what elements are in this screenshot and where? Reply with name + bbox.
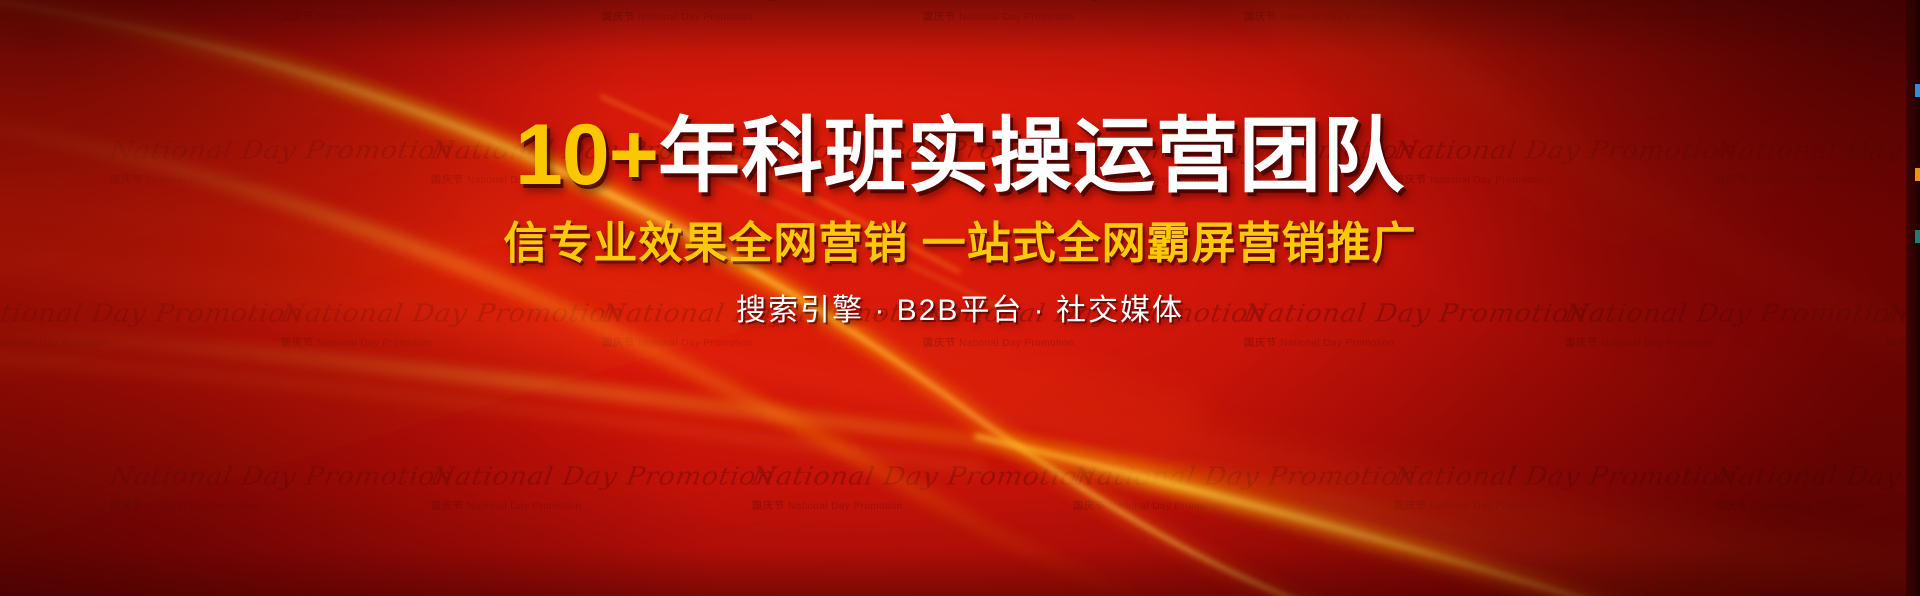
promotional-banner: National Day Promotion国庆节 National Day P…: [0, 0, 1920, 596]
edge-accent-mark: [1915, 84, 1920, 97]
banner-content: 10+年科班实操运营团队 信专业效果全网营销 一站式全网霸屏营销推广 搜索引擎 …: [0, 0, 1920, 596]
headline-number: 10+: [515, 107, 658, 203]
edge-accent-mark: [1915, 230, 1920, 243]
tagline: 搜索引擎 · B2B平台 · 社交媒体: [736, 296, 1184, 326]
headline-text: 年科班实操运营团队: [658, 111, 1405, 202]
edge-accent-mark: [1915, 168, 1920, 181]
headline: 10+年科班实操运营团队: [515, 112, 1405, 198]
subheadline: 信专业效果全网营销 一站式全网霸屏营销推广: [503, 222, 1416, 266]
page-edge-strip: [1906, 0, 1920, 596]
